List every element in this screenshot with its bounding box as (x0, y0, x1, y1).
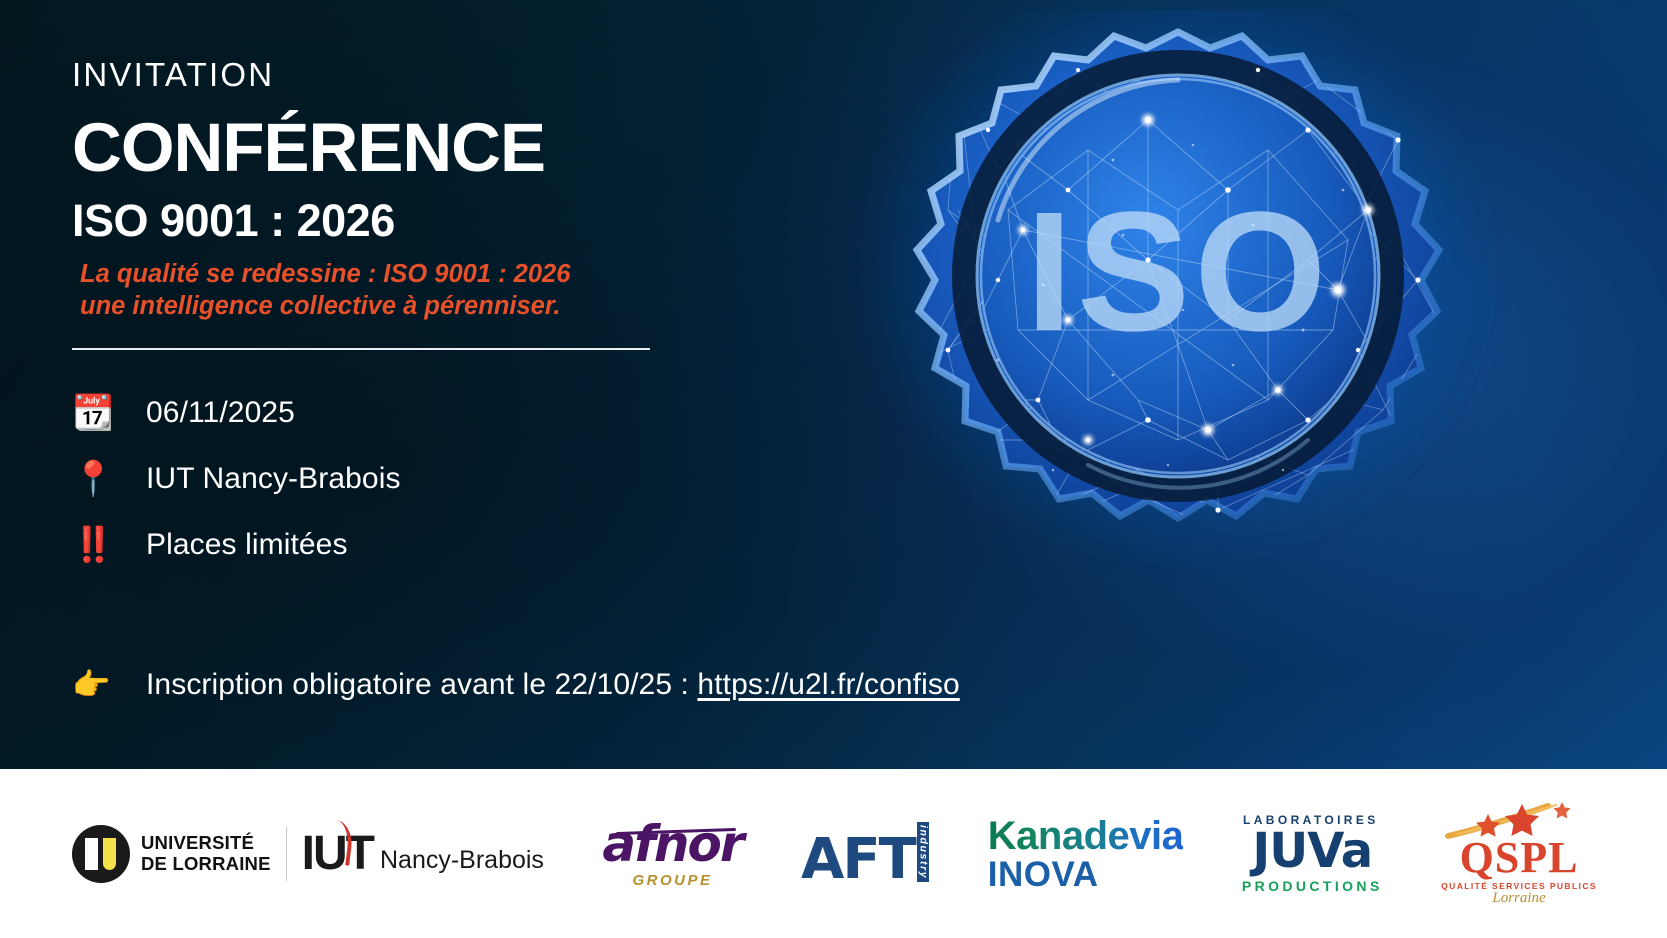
list-item: 📍 IUT Nancy-Brabois (72, 446, 772, 512)
invitation-kicker: INVITATION (72, 58, 772, 91)
event-details-list: 📆 06/11/2025 📍 IUT Nancy-Brabois ‼️ Plac… (72, 380, 772, 578)
registration-text: Inscription obligatoire avant le 22/10/2… (146, 668, 960, 702)
partner-logo-bar: UNIVERSITÉ DE LORRAINE IUT Nancy-Brabois… (0, 769, 1667, 938)
iut-swoosh-icon (317, 818, 354, 866)
iso-certification-badge: ISO (838, 10, 1518, 670)
event-date: 06/11/2025 (146, 396, 295, 430)
logo-divider (286, 827, 287, 881)
qspl-script-label: Lorraine (1492, 890, 1545, 907)
iut-sublabel: Nancy-Brabois (380, 848, 544, 876)
calendar-icon: 📆 (72, 396, 146, 430)
logo-universite-de-lorraine: UNIVERSITÉ DE LORRAINE IUT Nancy-Brabois (72, 825, 544, 883)
aft-vertical-label: industry (917, 822, 930, 882)
tagline: La qualité se redessine : ISO 9001 : 202… (80, 258, 772, 322)
page-subtitle: ISO 9001 : 2026 (72, 197, 772, 244)
list-item: 📆 06/11/2025 (72, 380, 772, 446)
kanadevia-sublabel: INOVA (988, 857, 1099, 892)
location-pin-icon: 📍 (72, 462, 146, 496)
logo-line-2: DE LORRAINE (141, 854, 271, 875)
poster-text-column: INVITATION CONFÉRENCE ISO 9001 : 2026 La… (72, 58, 772, 578)
aft-wordmark: AFT (801, 834, 915, 886)
logo-kanadevia-inova: Kanadevia INOVA (988, 816, 1184, 892)
qspl-stars-icon (1444, 800, 1594, 840)
double-exclamation-icon: ‼️ (72, 528, 146, 562)
afnor-swoosh-icon (616, 827, 736, 834)
logo-laboratoires-juva: LABORATOIRES JUVa PRODUCTIONS (1242, 813, 1383, 894)
page-title: CONFÉRENCE (72, 113, 772, 183)
qspl-wordmark: QSPL (1460, 836, 1579, 880)
logo-aft-industry: AFT industry (801, 822, 929, 885)
juva-wordmark: JUVa (1252, 827, 1372, 875)
event-location: IUT Nancy-Brabois (146, 462, 401, 496)
iut-mark: IUT (302, 831, 373, 877)
afnor-wordmark: afnor (602, 819, 742, 869)
logo-iut-nancy-brabois: IUT Nancy-Brabois (302, 831, 544, 877)
event-capacity-note: Places limitées (146, 528, 348, 562)
pointing-right-icon: 👉 (72, 670, 146, 701)
list-item: ‼️ Places limitées (72, 512, 772, 578)
registration-line: 👉 Inscription obligatoire avant le 22/10… (72, 668, 960, 702)
universite-de-lorraine-label: UNIVERSITÉ DE LORRAINE (141, 833, 271, 874)
conference-invitation-poster: INVITATION CONFÉRENCE ISO 9001 : 2026 La… (0, 0, 1667, 938)
logo-line-1: UNIVERSITÉ (141, 833, 271, 854)
tagline-line-1: La qualité se redessine : ISO 9001 : 202… (80, 258, 772, 290)
logo-afnor-groupe: afnor GROUPE (602, 819, 742, 889)
tagline-line-2: une intelligence collective à pérenniser… (80, 290, 772, 322)
registration-link[interactable]: https://u2l.fr/confiso (697, 668, 959, 701)
registration-label: Inscription obligatoire avant le 22/10/2… (146, 668, 697, 701)
kanadevia-wordmark: Kanadevia (988, 816, 1184, 856)
juva-sublabel: PRODUCTIONS (1242, 878, 1383, 894)
universite-de-lorraine-icon (72, 825, 130, 883)
badge-center-label: ISO (1026, 177, 1331, 367)
divider-rule (72, 348, 650, 350)
afnor-sublabel: GROUPE (632, 872, 712, 889)
logo-qspl-lorraine: QSPL QUALITÉ SERVICES PUBLICS Lorraine (1441, 800, 1597, 907)
